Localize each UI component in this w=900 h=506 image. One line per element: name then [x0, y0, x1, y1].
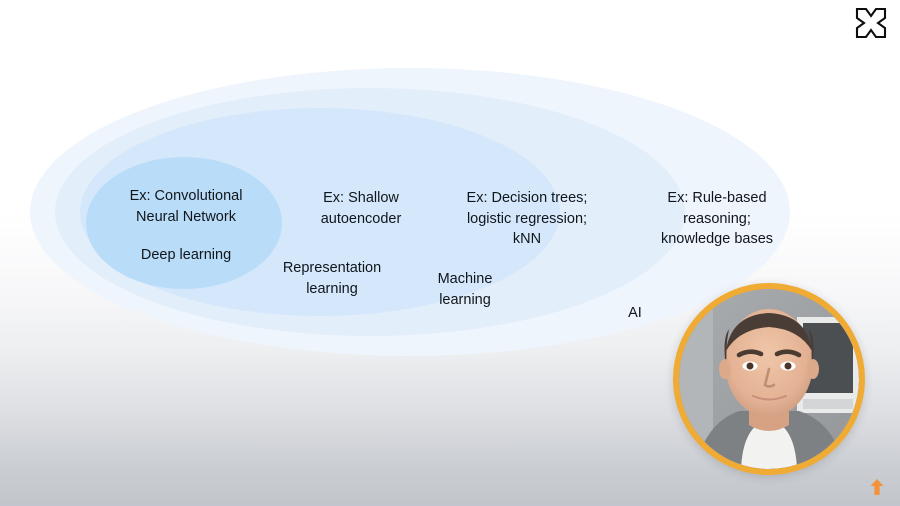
orange-up-arrow-icon[interactable]	[868, 477, 886, 497]
example-label-ai: Ex: Rule-based reasoning; knowledge base…	[632, 188, 802, 250]
example-label-deep-learning: Ex: Convolutional Neural Network	[96, 186, 276, 227]
ring-label-ai: AI	[600, 303, 670, 324]
ring-label-representation-learning: Representation learning	[262, 258, 402, 299]
presenter-webcam-bubble[interactable]	[673, 283, 865, 475]
abstract-x-mark-logo-icon	[854, 6, 888, 40]
example-label-representation-learning: Ex: Shallow autoencoder	[282, 188, 440, 229]
slide-canvas: Ex: Convolutional Neural Network Deep le…	[0, 0, 900, 506]
presenter-avatar	[679, 289, 859, 469]
ring-label-machine-learning: Machine learning	[410, 269, 520, 310]
ring-label-deep-learning: Deep learning	[96, 245, 276, 266]
example-label-machine-learning: Ex: Decision trees; logistic regression;…	[442, 188, 612, 250]
